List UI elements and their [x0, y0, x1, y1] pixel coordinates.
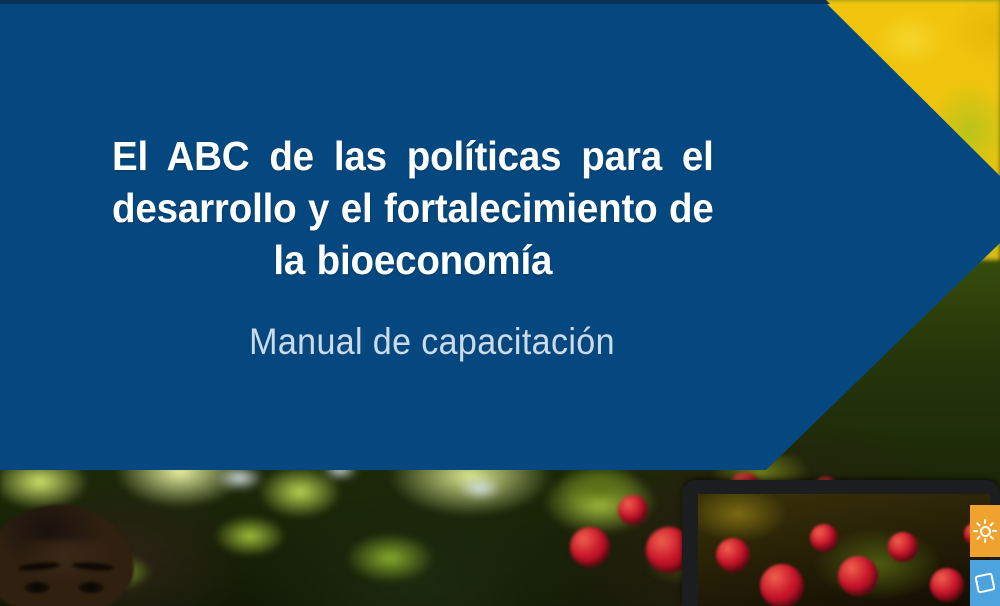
- apple: [930, 568, 964, 602]
- eye-left: [24, 582, 50, 593]
- leaf-icon-tile[interactable]: [970, 560, 1000, 606]
- sun-icon-tile[interactable]: [970, 505, 1000, 557]
- woman-portrait-shading: [4, 540, 132, 606]
- sun-icon: [974, 520, 996, 542]
- sky-gaps: [180, 462, 540, 532]
- tablet-device: [682, 480, 1000, 606]
- eye-right: [78, 582, 104, 593]
- page-subtitle: Manual de capacitación: [138, 320, 727, 364]
- apple: [618, 495, 648, 525]
- apple: [760, 564, 804, 606]
- apple: [888, 532, 918, 562]
- tablet-screen: [698, 494, 990, 606]
- apple: [810, 524, 838, 552]
- apple: [570, 527, 610, 567]
- cover-page: El ABC de las políticas para el desarrol…: [0, 0, 1000, 606]
- title-block: El ABC de las políticas para el desarrol…: [112, 130, 752, 286]
- apple: [716, 538, 750, 572]
- leaf-icon: [974, 572, 995, 593]
- apple: [838, 556, 878, 596]
- page-title: El ABC de las políticas para el desarrol…: [112, 130, 714, 286]
